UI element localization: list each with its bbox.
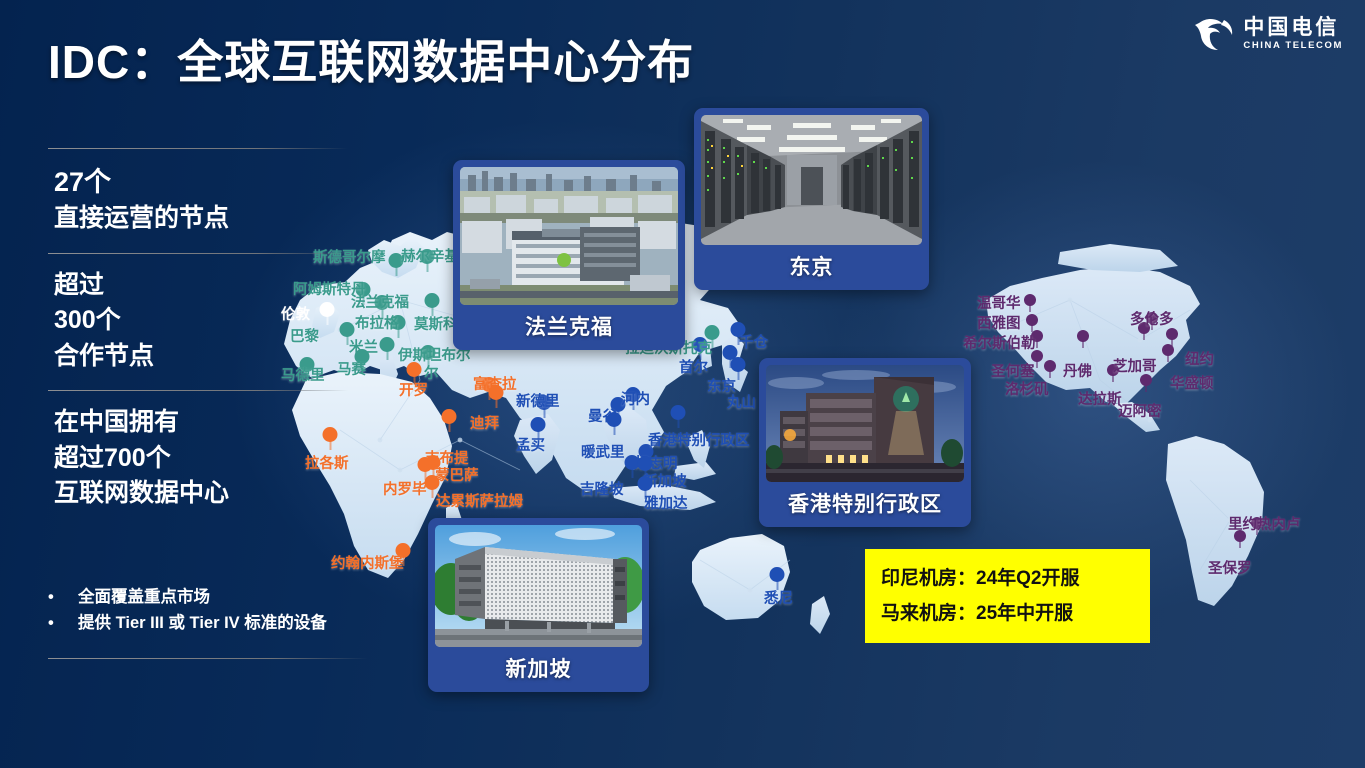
- status-callout-box: 印尼机房：24年Q2开服 马来机房：25年中开服: [865, 549, 1150, 643]
- server-room-interior-image: [701, 115, 922, 245]
- pin-stem-icon: [1029, 305, 1031, 312]
- bullet-marker-icon: •: [48, 585, 78, 611]
- map-city-label: 布拉格: [355, 312, 399, 333]
- pin-stem-icon: [1049, 371, 1051, 378]
- map-city-label: 华盛顿: [1170, 372, 1214, 393]
- pin-head-icon: [380, 337, 395, 352]
- pin-stem-icon: [677, 419, 679, 428]
- pin-stem-icon: [431, 489, 433, 498]
- datacenter-building-facade-image: [435, 525, 642, 647]
- map-city-label: 新德里: [516, 390, 560, 411]
- callout-line-indonesia: 印尼机房：24年Q2开服: [881, 561, 1134, 596]
- pin-stem-icon: [1143, 333, 1145, 340]
- map-city-label: 西雅图: [977, 312, 1021, 333]
- callout-line-malaysia: 马来机房：25年中开服: [881, 596, 1134, 631]
- aerial-datacenter-campus-image: [460, 167, 678, 305]
- pin-stem-icon: [386, 351, 388, 360]
- map-city-label: 纽约: [1185, 348, 1214, 369]
- pin-stem-icon: [737, 371, 739, 380]
- pin-stem-icon: [448, 423, 450, 432]
- map-city-label: 多伦多: [1130, 308, 1174, 329]
- pin-head-icon: [489, 385, 504, 400]
- pin-head-icon: [418, 457, 433, 472]
- stat-block-nodes: 27个 直接运营的节点: [48, 149, 348, 253]
- stat-china-line2: 超过700个: [54, 441, 348, 477]
- map-pin-marker[interactable]: [770, 567, 785, 590]
- map-city-label: 达拉斯: [1078, 388, 1122, 409]
- bullet-marker-icon: •: [48, 611, 78, 637]
- map-pin-marker[interactable]: [1162, 344, 1174, 362]
- china-telecom-logo: 中国电信 CHINA TELECOM: [1193, 14, 1343, 54]
- pin-stem-icon: [1036, 361, 1038, 368]
- map-city-label: 莫斯科: [414, 313, 458, 334]
- map-city-label: 千仓: [739, 331, 768, 352]
- map-pin-marker[interactable]: [1077, 330, 1089, 348]
- map-city-label: 首尔: [679, 356, 708, 377]
- map-pin-marker[interactable]: [380, 337, 395, 360]
- stat-nodes-number: 27个: [54, 163, 348, 201]
- map-city-label: 芝加哥: [1113, 355, 1157, 376]
- pin-stem-icon: [631, 469, 633, 478]
- bullet-text: 提供 Tier III 或 Tier IV 标准的设备: [78, 611, 327, 637]
- frankfurt-caption: 法兰克福: [460, 305, 678, 350]
- pin-stem-icon: [495, 399, 497, 408]
- map-city-label: 赫尔辛基: [401, 245, 459, 266]
- map-city-label: 开罗: [399, 379, 428, 400]
- map-city-label: 圣保罗: [1208, 557, 1252, 578]
- pin-stem-icon: [1112, 375, 1114, 382]
- map-city-label: 希尔斯伯勒: [963, 332, 1036, 353]
- pin-stem-icon: [1167, 355, 1169, 362]
- pin-stem-icon: [1082, 341, 1084, 348]
- map-city-label: 孟买: [516, 434, 545, 455]
- map-pin-marker[interactable]: [1140, 374, 1152, 392]
- logo-chinese-text: 中国电信: [1243, 17, 1343, 38]
- singapore-caption: 新加坡: [435, 647, 642, 692]
- frankfurt-photo: [460, 167, 678, 305]
- pin-head-icon: [638, 456, 653, 471]
- stat-china-line3: 互联网数据中心: [54, 476, 348, 512]
- map-city-label: 河内: [621, 388, 650, 409]
- pin-head-icon: [407, 362, 422, 377]
- pin-head-icon: [671, 405, 686, 420]
- map-pin-marker[interactable]: [489, 385, 504, 408]
- pin-stem-icon: [613, 426, 615, 435]
- stat-block-china: 在中国拥有 超过700个 互联网数据中心: [48, 391, 348, 528]
- pin-stem-icon: [1036, 341, 1038, 348]
- map-city-label: 迈阿密: [1118, 400, 1162, 421]
- stat-nodes-label: 直接运营的节点: [54, 201, 348, 237]
- pin-stem-icon: [776, 581, 778, 590]
- map-pin-marker[interactable]: [607, 412, 622, 435]
- map-city-label: 暖武里: [581, 441, 625, 462]
- divider-bottom: [48, 658, 368, 659]
- page-title: IDC：全球互联网数据中心分布: [48, 26, 694, 92]
- pin-head-icon: [425, 475, 440, 490]
- map-city-label: 悉尼: [764, 592, 798, 607]
- frankfurt-card[interactable]: 法兰克福: [453, 160, 685, 350]
- stat-china-line1: 在中国拥有: [54, 405, 348, 441]
- singapore-card[interactable]: 新加坡: [428, 518, 649, 692]
- hongkong-caption: 香港特别行政区: [766, 482, 964, 527]
- map-city-label: 约翰内斯堡: [331, 552, 404, 573]
- stat-partners-line1: 超过: [54, 268, 348, 304]
- hongkong-card[interactable]: 香港特别行政区: [759, 358, 971, 527]
- map-city-label: 丹佛: [1063, 360, 1092, 381]
- tokyo-caption: 东京: [701, 245, 922, 290]
- map-city-label: 洛杉矶: [1005, 378, 1049, 399]
- map-pin-marker[interactable]: [671, 405, 686, 428]
- map-city-label: 蒙巴萨: [435, 464, 479, 485]
- map-pin-marker[interactable]: [1234, 530, 1246, 548]
- tokyo-card[interactable]: 东京: [694, 108, 929, 290]
- map-city-label: 温哥华: [977, 292, 1021, 313]
- pin-head-icon: [638, 476, 653, 491]
- map-pin-marker[interactable]: [1044, 360, 1056, 378]
- map-pin-marker[interactable]: [731, 357, 746, 380]
- logo-english-text: CHINA TELECOM: [1243, 41, 1343, 51]
- left-stats-panel: 27个 直接运营的节点 超过 300个 合作节点 在中国拥有 超过700个 互联…: [48, 148, 348, 528]
- map-city-label: 内罗毕: [383, 478, 427, 499]
- pin-head-icon: [442, 409, 457, 424]
- map-city-label: 雅加达: [644, 492, 688, 513]
- map-city-label: 吉隆坡: [580, 478, 624, 499]
- map-city-label: 法兰克福: [351, 291, 409, 312]
- pin-head-icon: [425, 293, 440, 308]
- pin-stem-icon: [1239, 541, 1241, 548]
- pin-stem-icon: [1145, 385, 1147, 392]
- pin-head-icon: [731, 357, 746, 372]
- stat-partners-line3: 合作节点: [54, 339, 348, 375]
- tokyo-photo: [701, 115, 922, 245]
- pin-head-icon: [770, 567, 785, 582]
- pin-head-icon: [607, 412, 622, 427]
- map-city-label: 迪拜: [470, 412, 499, 433]
- datacenter-building-dusk-image: [766, 365, 964, 482]
- stat-partners-line2: 300个: [54, 303, 348, 339]
- map-pin-marker[interactable]: [442, 409, 457, 432]
- stat-block-partners: 超过 300个 合作节点: [48, 254, 348, 391]
- china-telecom-mark-icon: [1193, 14, 1235, 54]
- singapore-photo: [435, 525, 642, 647]
- hongkong-photo: [766, 365, 964, 482]
- map-pin-marker[interactable]: [1024, 294, 1036, 312]
- map-city-label: 香港特别行政区: [648, 429, 750, 450]
- map-city-label: 丸山: [727, 391, 756, 412]
- map-city-label: 达累斯萨拉姆: [436, 490, 523, 511]
- bullet-text: 全面覆盖重点市场: [78, 585, 210, 611]
- pin-head-icon: [531, 417, 546, 432]
- pin-stem-icon: [395, 267, 397, 276]
